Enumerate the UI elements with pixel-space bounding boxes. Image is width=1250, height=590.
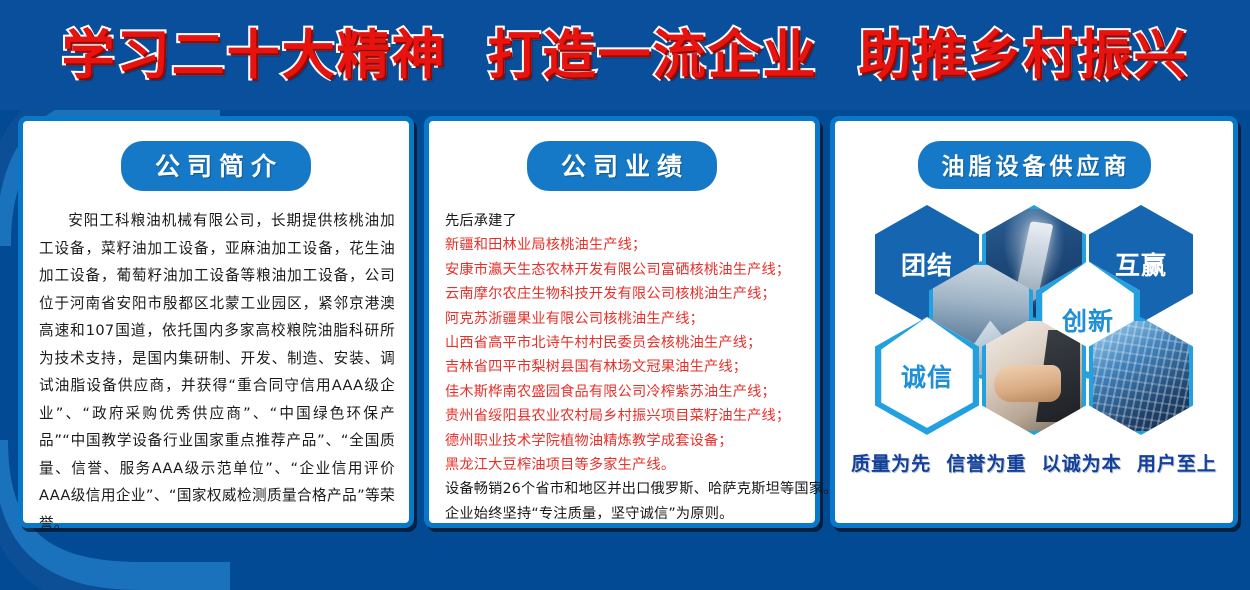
hexagon-label-chengxin: 诚信	[901, 358, 953, 394]
header-title: 学习二十大精神 打造一流企业 助推乡村振兴	[0, 26, 1250, 86]
header-band: 学习二十大精神 打造一流企业 助推乡村振兴	[0, 0, 1250, 110]
performance-footer-line: 企业始终坚持“专注质量，坚守诚信”为原则。	[445, 502, 803, 526]
promo-board: 学习二十大精神 打造一流企业 助推乡村振兴 公司简介 安阳工科粮油机械有限公司，…	[0, 0, 1250, 590]
performance-footer-lines: 设备畅销26个省市和地区并出口俄罗斯、哈萨克斯坦等国家。企业始终坚持“专注质量，…	[445, 477, 803, 526]
hexagon-label-tuanjie: 团结	[901, 246, 953, 282]
handshake-photo-icon	[986, 321, 1082, 431]
performance-project-item: 贵州省绥阳县农业农村局乡村振兴项目菜籽油生产线；	[445, 404, 803, 428]
panel-title-company-performance: 公司业绩	[527, 141, 717, 191]
hexagon-label-chuangxin: 创新	[1062, 302, 1114, 338]
performance-project-item: 吉林省四平市梨树县国有林场文冠果油生产线；	[445, 355, 803, 379]
panel-supplier: 油脂设备供应商 团结 互赢 创新 诚信	[830, 116, 1238, 528]
performance-project-item: 新疆和田林业局核桃油生产线；	[445, 233, 803, 257]
office-building-photo-icon	[1093, 321, 1189, 431]
panel-row: 公司简介 安阳工科粮油机械有限公司，长期提供核桃油加工设备，菜籽油加工设备，亚麻…	[0, 116, 1250, 528]
performance-project-item: 阿克苏浙疆果业有限公司核桃油生产线；	[445, 307, 803, 331]
company-profile-text: 安阳工科粮油机械有限公司，长期提供核桃油加工设备，菜籽油加工设备，亚麻油加工设备…	[39, 207, 395, 537]
performance-project-item: 佳木斯桦南农盛园食品有限公司冷榨紫苏油生产线；	[445, 380, 803, 404]
performance-footer-line: 设备畅销26个省市和地区并出口俄罗斯、哈萨克斯坦等国家。	[445, 477, 803, 501]
hexagon-label-huying: 互赢	[1115, 246, 1167, 282]
hexagon-cluster: 团结 互赢 创新 诚信	[869, 203, 1199, 435]
panel-company-profile: 公司简介 安阳工科粮油机械有限公司，长期提供核桃油加工设备，菜籽油加工设备，亚麻…	[18, 116, 414, 528]
performance-project-item: 黑龙江大豆榨油项目等多家生产线。	[445, 453, 803, 477]
performance-text-block: 先后承建了 新疆和田林业局核桃油生产线；安康市瀛天生态农林开发有限公司富硒核桃油…	[445, 209, 803, 526]
performance-project-item: 德州职业技术学院植物油精炼教学成套设备；	[445, 429, 803, 453]
performance-project-item: 云南摩尔农庄生物科技开发有限公司核桃油生产线；	[445, 282, 803, 306]
panel-title-company-profile: 公司简介	[121, 141, 311, 191]
performance-project-list: 新疆和田林业局核桃油生产线；安康市瀛天生态农林开发有限公司富硒核桃油生产线；云南…	[445, 233, 803, 477]
supplier-slogan: 质量为先 信誉为重 以诚为本 用户至上	[835, 449, 1233, 476]
panel-company-performance: 公司业绩 先后承建了 新疆和田林业局核桃油生产线；安康市瀛天生态农林开发有限公司…	[424, 116, 820, 528]
performance-project-item: 山西省高平市北诗午村村民委员会核桃油生产线；	[445, 331, 803, 355]
performance-project-item: 安康市瀛天生态农林开发有限公司富硒核桃油生产线；	[445, 258, 803, 282]
panel-title-supplier: 油脂设备供应商	[918, 141, 1151, 189]
performance-intro: 先后承建了	[445, 209, 803, 233]
